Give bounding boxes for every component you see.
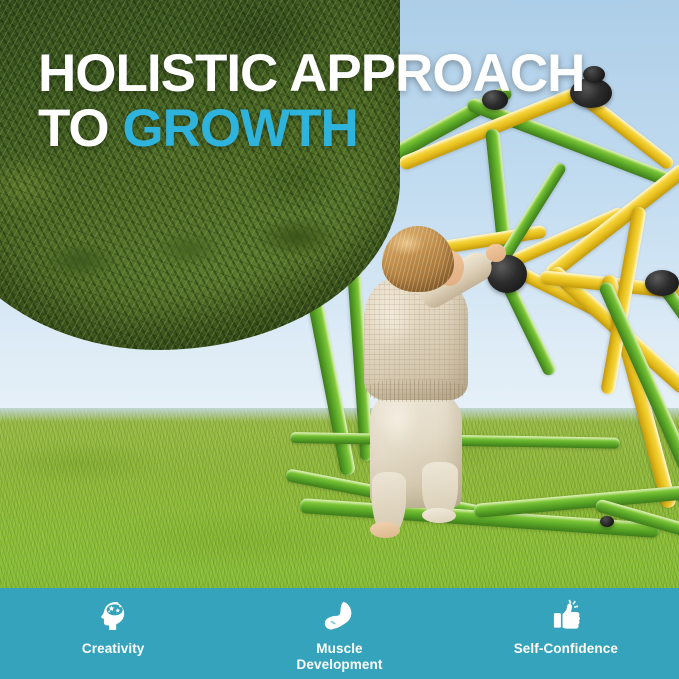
headline-line-1: HOLISTIC APPROACH [38, 44, 584, 103]
headline-accent-word: GROWTH [122, 99, 357, 158]
feature-label: Muscle Development [297, 641, 383, 672]
headline-line-2: TO GROWTH [38, 103, 638, 154]
child-foot-left [370, 522, 400, 538]
feature-label-line-1: Muscle [297, 641, 383, 657]
child-foot-right [422, 508, 456, 523]
feature-label: Self-Confidence [514, 641, 618, 657]
brain-head-icon [93, 595, 133, 637]
headline-line-2-prefix: TO [38, 99, 122, 158]
flexed-bicep-icon [319, 595, 359, 637]
dome-hub-connector [645, 270, 679, 296]
feature-label: Creativity [82, 641, 145, 657]
feature-label-line-2: Development [297, 657, 383, 673]
child-sweater-hem [366, 380, 466, 402]
page-title: HOLISTIC APPROACH TO GROWTH [38, 48, 638, 155]
dome-bar-yellow [543, 162, 679, 282]
product-lifestyle-banner: HOLISTIC APPROACH TO GROWTH Creativity [0, 0, 679, 679]
feature-self-confidence: Self-Confidence [453, 588, 679, 657]
dome-hub-connector [600, 516, 614, 527]
feature-muscle-development: Muscle Development [226, 588, 452, 672]
thumbs-up-icon [546, 595, 586, 637]
child-hand [486, 244, 506, 262]
feature-creativity: Creativity [0, 588, 226, 657]
feature-bar: Creativity Muscle Development [0, 588, 679, 679]
